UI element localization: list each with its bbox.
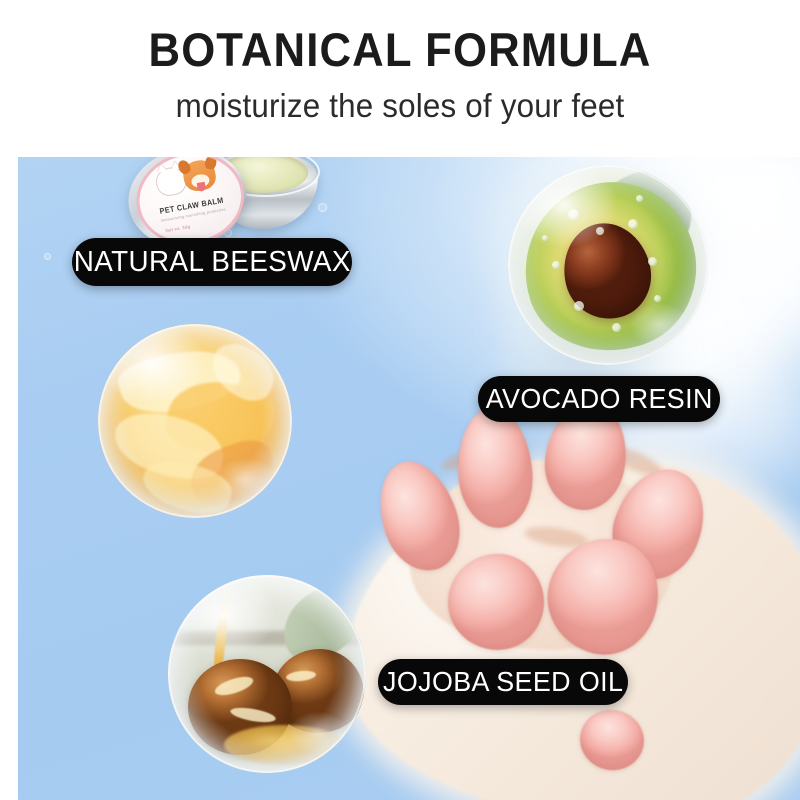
water-droplet: [596, 227, 604, 235]
header-band: BOTANICAL FORMULA moisturize the soles o…: [0, 0, 800, 157]
water-droplet: [542, 235, 548, 241]
water-droplet: [636, 195, 643, 202]
water-droplet: [612, 323, 621, 332]
page-subtitle: moisturize the soles of your feet: [20, 88, 780, 124]
ingredient-label-beeswax: NATURAL BEESWAX: [72, 238, 352, 286]
beeswax-sphere: [98, 324, 292, 518]
water-droplet: [648, 257, 657, 266]
water-droplet: [654, 295, 661, 302]
avocado-sphere: [508, 165, 708, 365]
water-droplet: [574, 301, 584, 311]
water-bubble: [318, 203, 327, 212]
oil-pool: [224, 725, 344, 765]
water-droplet: [552, 261, 560, 269]
ingredient-label-text: JOJOBA SEED OIL: [383, 666, 623, 698]
jojoba-sphere: [168, 575, 366, 773]
dog-illustration-icon: [181, 158, 218, 193]
product-marketing-poster: BOTANICAL FORMULA moisturize the soles o…: [0, 0, 800, 800]
water-droplet: [628, 219, 638, 229]
water-droplet: [568, 209, 579, 220]
ingredient-label-avocado: AVOCADO RESIN: [478, 376, 720, 422]
product-photo-scene: PET CLAW BALM moisturizing nourishing pr…: [18, 157, 800, 800]
tin-volume-text: Net wt. 30g: [152, 222, 203, 236]
dog-tongue: [197, 182, 206, 192]
page-title: BOTANICAL FORMULA: [28, 26, 772, 73]
water-bubble: [44, 253, 51, 260]
ingredient-label-jojoba: JOJOBA SEED OIL: [378, 659, 628, 705]
ingredient-label-text: AVOCADO RESIN: [485, 383, 712, 415]
ingredient-label-text: NATURAL BEESWAX: [74, 246, 351, 279]
